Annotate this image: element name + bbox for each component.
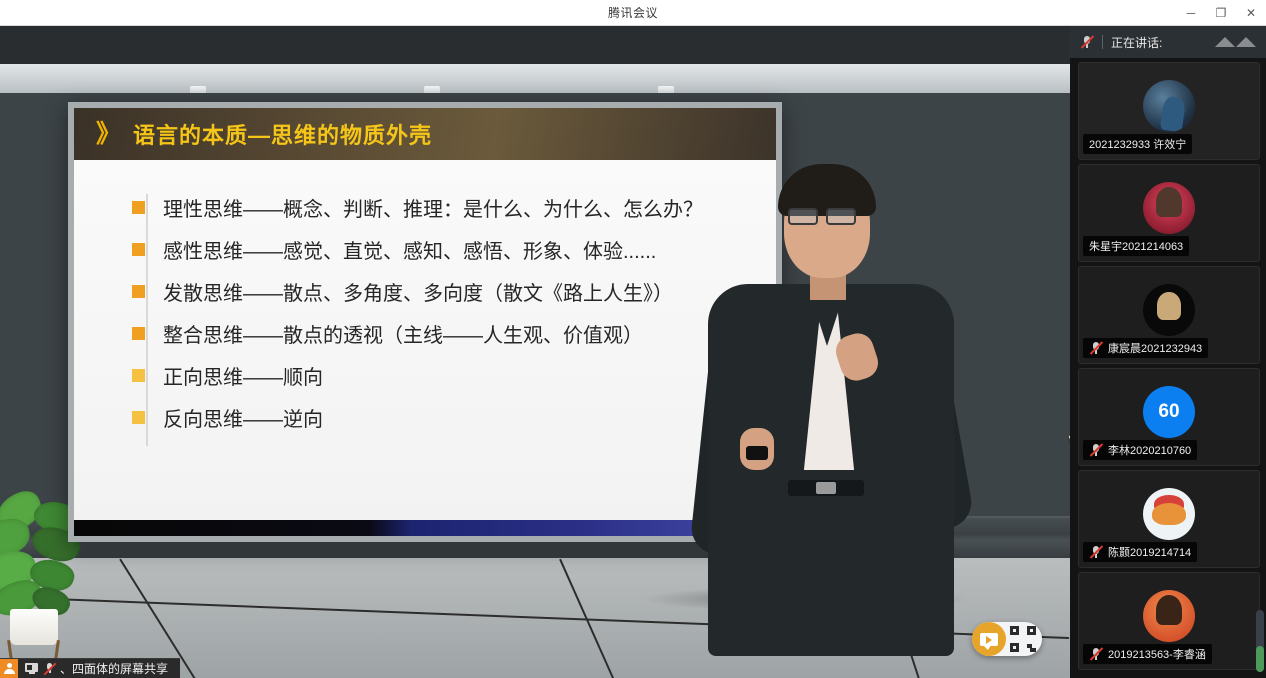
screen-share-icon <box>25 663 39 675</box>
participant-list[interactable]: 2021232933 许效宁 朱星宇2021214063 康宸晨20212329… <box>1070 58 1266 678</box>
slide-bullet-text: 理性思维——概念、判断、推理：是什么、为什么、怎么办？ <box>163 193 703 222</box>
slide-bullet: 正向思维——顺向 <box>132 354 776 396</box>
presenter-glasses-right <box>826 208 856 225</box>
slide-bullet-text: 反向思维——逆向 <box>163 403 323 432</box>
participant-tile[interactable]: 2021232933 许效宁 <box>1078 62 1260 160</box>
participant-tile[interactable]: 60 李林2020210760 <box>1078 368 1260 466</box>
mic-muted-icon <box>1080 35 1094 49</box>
slide-bullet-text: 整合思维——散点的透视（主线——人生观、价值观） <box>163 319 643 348</box>
slide-bullet: 整合思维——散点的透视（主线——人生观、价值观） <box>132 312 776 354</box>
avatar <box>1143 182 1195 234</box>
user-icon <box>0 659 18 678</box>
bullet-marker-icon <box>132 243 145 256</box>
slide-bullet-list: 理性思维——概念、判断、推理：是什么、为什么、怎么办？ 感性思维——感觉、直觉、… <box>74 160 776 438</box>
close-button[interactable]: ✕ <box>1236 0 1266 26</box>
participant-name-badge: 康宸晨2021232943 <box>1083 338 1208 358</box>
bullet-marker-icon <box>132 411 145 424</box>
slide-bullet: 感性思维——感觉、直觉、感知、感悟、形象、体验...... <box>132 228 776 270</box>
participant-tile[interactable]: 康宸晨2021232943 <box>1078 266 1260 364</box>
tencent-meeting-window: 腾讯会议 ─ ❐ ✕ <box>0 0 1266 678</box>
participant-name-badge: 朱星宇2021214063 <box>1083 236 1189 256</box>
window-title: 腾讯会议 <box>608 4 658 21</box>
slide-bullet: 反向思维——逆向 <box>132 396 776 438</box>
presenter-belt-buckle <box>816 482 836 494</box>
participant-list-scrollbar[interactable] <box>1256 610 1264 672</box>
qr-code-icon[interactable] <box>1010 626 1036 652</box>
scrollbar-thumb[interactable] <box>1256 646 1264 672</box>
chat-bubble-icon[interactable] <box>972 622 1006 656</box>
slide-bullet-text: 发散思维——散点、多角度、多向度（散文《路上人生》） <box>163 277 673 306</box>
screen-share-status-bar[interactable]: 、四面体的屏幕共享 <box>0 658 180 678</box>
avatar: 60 <box>1143 386 1195 438</box>
mic-muted-icon <box>1089 545 1103 559</box>
avatar <box>1143 284 1195 336</box>
mic-muted-icon <box>43 662 56 676</box>
mic-muted-icon <box>1089 443 1103 457</box>
avatar <box>1143 590 1195 642</box>
bullet-marker-icon <box>132 327 145 340</box>
participant-name-badge: 陈颢2019214714 <box>1083 542 1197 562</box>
shared-screen-stage[interactable]: 》 语言的本质—思维的物质外壳 理性思维——概念、判断、推理：是什么、为什么、怎… <box>0 26 1070 678</box>
slide-title: 语言的本质—思维的物质外壳 <box>133 118 432 150</box>
speaking-label: 正在讲话: <box>1111 34 1162 51</box>
participant-tile[interactable]: 朱星宇2021214063 <box>1078 164 1260 262</box>
collapse-chevrons-icon[interactable] <box>1215 37 1256 47</box>
slide-bullet-text: 感性思维——感觉、直觉、感知、感悟、形象、体验...... <box>163 235 656 264</box>
presenter-glasses-left <box>788 208 818 225</box>
bullet-marker-icon <box>132 285 145 298</box>
participant-tile[interactable]: 2019213563-李睿涵 <box>1078 572 1260 670</box>
slide-bullet: 发散思维——散点、多角度、多向度（散文《路上人生》） <box>132 270 776 312</box>
presenter-remote <box>746 446 768 460</box>
participant-name: 2019213563-李睿涵 <box>1108 646 1206 662</box>
floating-qr-widget[interactable] <box>972 622 1042 656</box>
avatar <box>1143 488 1195 540</box>
maximize-button[interactable]: ❐ <box>1206 0 1236 26</box>
mic-muted-icon <box>1089 647 1103 661</box>
avatar <box>1143 80 1195 132</box>
participant-rail: 正在讲话: 2021232933 许效宁 朱星宇2021214063 <box>1070 26 1266 678</box>
ceiling-dark-band <box>0 26 1070 64</box>
participant-name: 李林2020210760 <box>1108 442 1191 458</box>
participant-tile[interactable]: 陈颢2019214714 <box>1078 470 1260 568</box>
participant-name: 陈颢2019214714 <box>1108 544 1191 560</box>
participant-name-badge: 2021232933 许效宁 <box>1083 134 1192 154</box>
participant-name-badge: 李林2020210760 <box>1083 440 1197 460</box>
double-chevron-icon: 》 <box>96 122 121 147</box>
slide-bullet-text: 正向思维——顺向 <box>163 361 323 390</box>
minimize-button[interactable]: ─ <box>1176 0 1206 26</box>
participant-name: 2021232933 许效宁 <box>1089 136 1186 152</box>
participant-name: 康宸晨2021232943 <box>1108 340 1202 356</box>
speaking-status-bar: 正在讲话: <box>1070 26 1266 58</box>
participant-name: 朱星宇2021214063 <box>1089 238 1183 254</box>
title-bar: 腾讯会议 ─ ❐ ✕ <box>0 0 1266 26</box>
slide-bullet: 理性思维——概念、判断、推理：是什么、为什么、怎么办？ <box>132 186 776 228</box>
bullet-marker-icon <box>132 201 145 214</box>
divider <box>1102 35 1103 49</box>
participant-name-badge: 2019213563-李睿涵 <box>1083 644 1212 664</box>
window-controls: ─ ❐ ✕ <box>1176 0 1266 26</box>
ceiling-strip <box>0 64 1070 93</box>
screen-share-label: 、四面体的屏幕共享 <box>60 660 168 677</box>
mic-muted-icon <box>1089 341 1103 355</box>
bullet-marker-icon <box>132 369 145 382</box>
